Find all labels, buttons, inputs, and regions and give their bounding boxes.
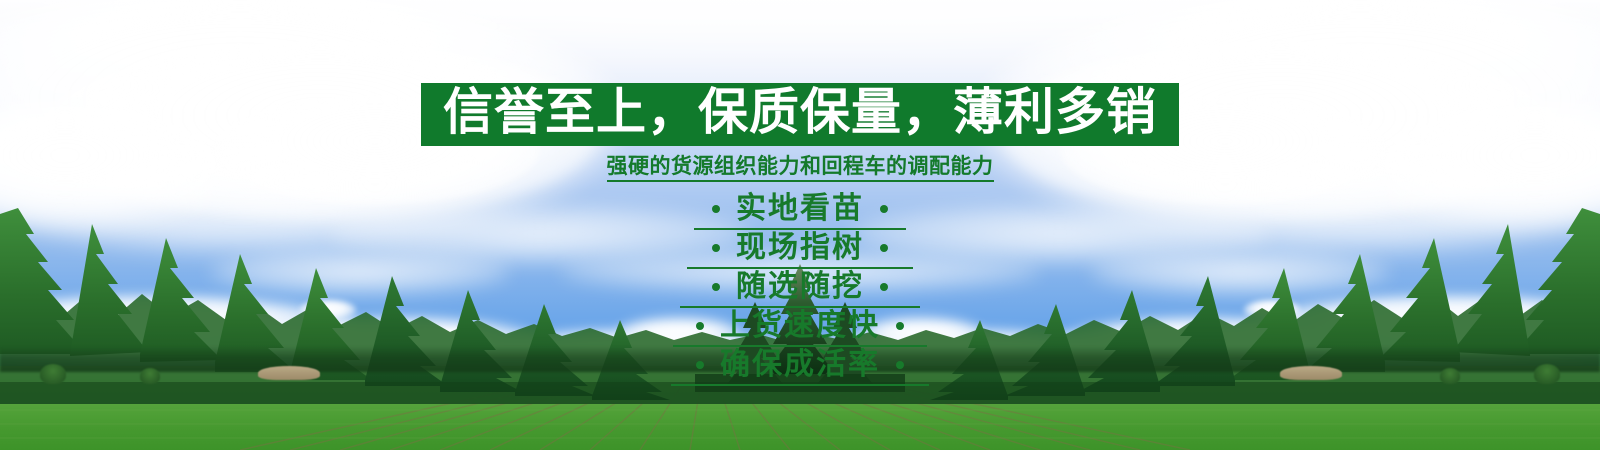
bullet-dot-icon [712,283,720,291]
feature-item: 实地看苗 [694,191,906,230]
feature-item: 随选随挖 [680,269,920,308]
bullet-dot-icon [712,205,720,213]
bullet-dot-icon [880,205,888,213]
headline-banner: 信誉至上，保质保量，薄利多销 [421,83,1179,146]
feature-item: 确保成活率 [671,347,929,386]
feature-label: 随选随挖 [736,272,864,302]
feature-label: 上货速度快 [720,311,880,341]
subtitle-text: 强硬的货源组织能力和回程车的调配能力 [607,156,994,182]
bullet-dot-icon [696,322,704,330]
bullet-dot-icon [880,244,888,252]
bullet-dot-icon [896,322,904,330]
bullet-dot-icon [896,361,904,369]
feature-label: 确保成活率 [720,350,880,380]
text-overlay: 信誉至上，保质保量，薄利多销 强硬的货源组织能力和回程车的调配能力 实地看苗 现… [0,0,1600,450]
feature-list: 实地看苗 现场指树 随选随挖 上货速度快 确保成活率 [671,191,929,386]
feature-item: 现场指树 [687,230,913,269]
feature-label: 现场指树 [736,233,864,263]
bullet-dot-icon [712,244,720,252]
feature-item: 上货速度快 [673,308,927,347]
bullet-dot-icon [880,283,888,291]
promo-banner: 信誉至上，保质保量，薄利多销 强硬的货源组织能力和回程车的调配能力 实地看苗 现… [0,0,1600,450]
feature-label: 实地看苗 [736,194,864,224]
bullet-dot-icon [696,361,704,369]
